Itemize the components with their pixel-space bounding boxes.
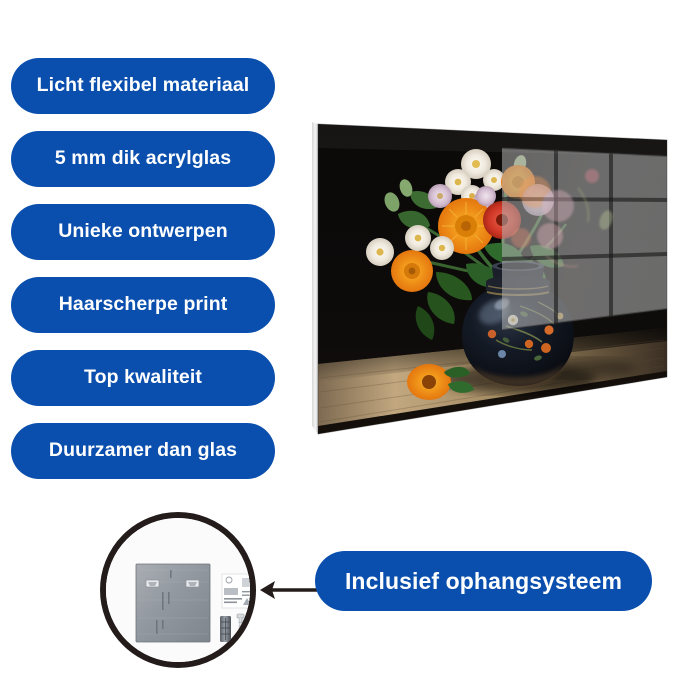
- feature-badge-unieke-ontwerpen[interactable]: Unieke ontwerpen: [11, 204, 275, 260]
- feature-badge-label: Haarscherpe print: [59, 295, 228, 315]
- feature-badge-label: Unieke ontwerpen: [58, 222, 228, 242]
- feature-badge-haarscherpe-print[interactable]: Haarscherpe print: [11, 277, 275, 333]
- feature-badge-top-kwaliteit[interactable]: Top kwaliteit: [11, 350, 275, 406]
- feature-badge-label: Duurzamer dan glas: [49, 441, 237, 461]
- feature-badge-duurzamer-dan-glas[interactable]: Duurzamer dan glas: [11, 423, 275, 479]
- hanging-system-badge-label: Inclusief ophangsysteem: [345, 570, 622, 593]
- hanging-system-badge[interactable]: Inclusief ophangsysteem: [315, 551, 652, 611]
- acrylic-panel-artwork[interactable]: [306, 96, 674, 442]
- feature-badge-licht-flexibel-materiaal[interactable]: Licht flexibel materiaal: [11, 58, 275, 114]
- feature-badge-label: 5 mm dik acrylglas: [55, 149, 231, 169]
- hanging-system-detail-circle[interactable]: [100, 512, 256, 668]
- mounting-kit-photo: [100, 512, 256, 668]
- hanging-system-photo: [106, 518, 256, 668]
- feature-badge-5-mm-dik-acrylglas[interactable]: 5 mm dik acrylglas: [11, 131, 275, 187]
- still-life-artwork-image: [306, 96, 674, 442]
- feature-badge-label: Licht flexibel materiaal: [37, 76, 250, 96]
- feature-badge-label: Top kwaliteit: [84, 368, 202, 388]
- promo-graphic: Licht flexibel materiaal 5 mm dik acrylg…: [0, 0, 700, 700]
